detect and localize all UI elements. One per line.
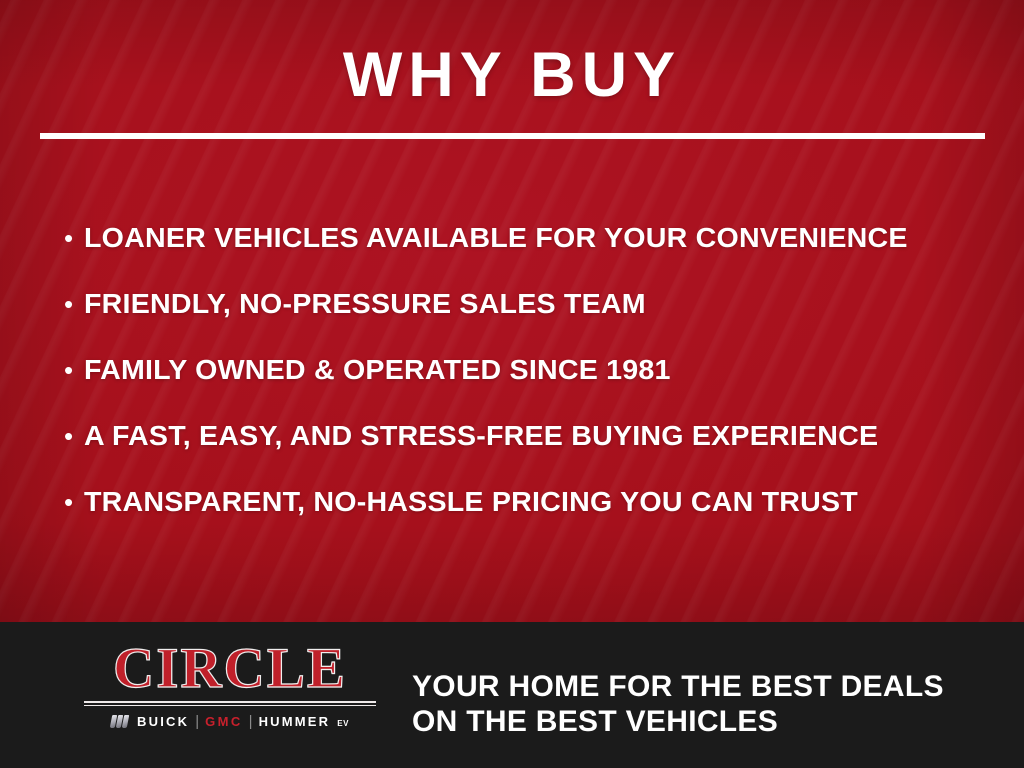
bullet-marker-icon: •	[64, 291, 84, 317]
benefits-list: • LOANER VEHICLES AVAILABLE FOR YOUR CON…	[64, 222, 984, 552]
footer-tagline-line2: ON THE BEST VEHICLES	[412, 705, 944, 740]
dealer-logo: CIRCLE BUICK | GMC | HUMMER EV	[84, 640, 376, 730]
list-item: • FAMILY OWNED & OPERATED SINCE 1981	[64, 354, 984, 420]
list-item-label: FAMILY OWNED & OPERATED SINCE 1981	[84, 354, 671, 386]
footer-tagline-line1: YOUR HOME FOR THE BEST DEALS	[412, 670, 944, 705]
dealer-logo-wordmark: CIRCLE	[84, 640, 376, 697]
bullet-marker-icon: •	[64, 489, 84, 515]
list-item: • TRANSPARENT, NO-HASSLE PRICING YOU CAN…	[64, 486, 984, 552]
bullet-marker-icon: •	[64, 357, 84, 383]
brand-label-buick: BUICK	[137, 715, 189, 728]
brand-separator: |	[195, 714, 199, 729]
list-item: • FRIENDLY, NO-PRESSURE SALES TEAM	[64, 288, 984, 354]
list-item-label: LOANER VEHICLES AVAILABLE FOR YOUR CONVE…	[84, 222, 908, 254]
buick-tri-shield-icon	[111, 715, 128, 728]
title-divider	[40, 133, 985, 139]
footer-tagline: YOUR HOME FOR THE BEST DEALS ON THE BEST…	[412, 670, 944, 740]
list-item-label: TRANSPARENT, NO-HASSLE PRICING YOU CAN T…	[84, 486, 858, 518]
brand-label-hummer-ev-suffix: EV	[337, 719, 349, 728]
bullet-marker-icon: •	[64, 423, 84, 449]
page-title: WHY BUY	[0, 44, 1024, 107]
list-item-label: A FAST, EASY, AND STRESS-FREE BUYING EXP…	[84, 420, 878, 452]
list-item-label: FRIENDLY, NO-PRESSURE SALES TEAM	[84, 288, 646, 320]
list-item: • A FAST, EASY, AND STRESS-FREE BUYING E…	[64, 420, 984, 486]
brand-label-hummer: HUMMER	[259, 715, 331, 728]
brand-label-gmc: GMC	[205, 715, 243, 728]
why-buy-slide: WHY BUY • LOANER VEHICLES AVAILABLE FOR …	[0, 0, 1024, 768]
footer-bar: CIRCLE BUICK | GMC | HUMMER EV YOUR HOME…	[0, 622, 1024, 768]
bullet-marker-icon: •	[64, 225, 84, 251]
brand-separator: |	[249, 714, 253, 729]
logo-divider	[84, 701, 376, 707]
list-item: • LOANER VEHICLES AVAILABLE FOR YOUR CON…	[64, 222, 984, 288]
brand-lineup: BUICK | GMC | HUMMER EV	[84, 713, 376, 730]
